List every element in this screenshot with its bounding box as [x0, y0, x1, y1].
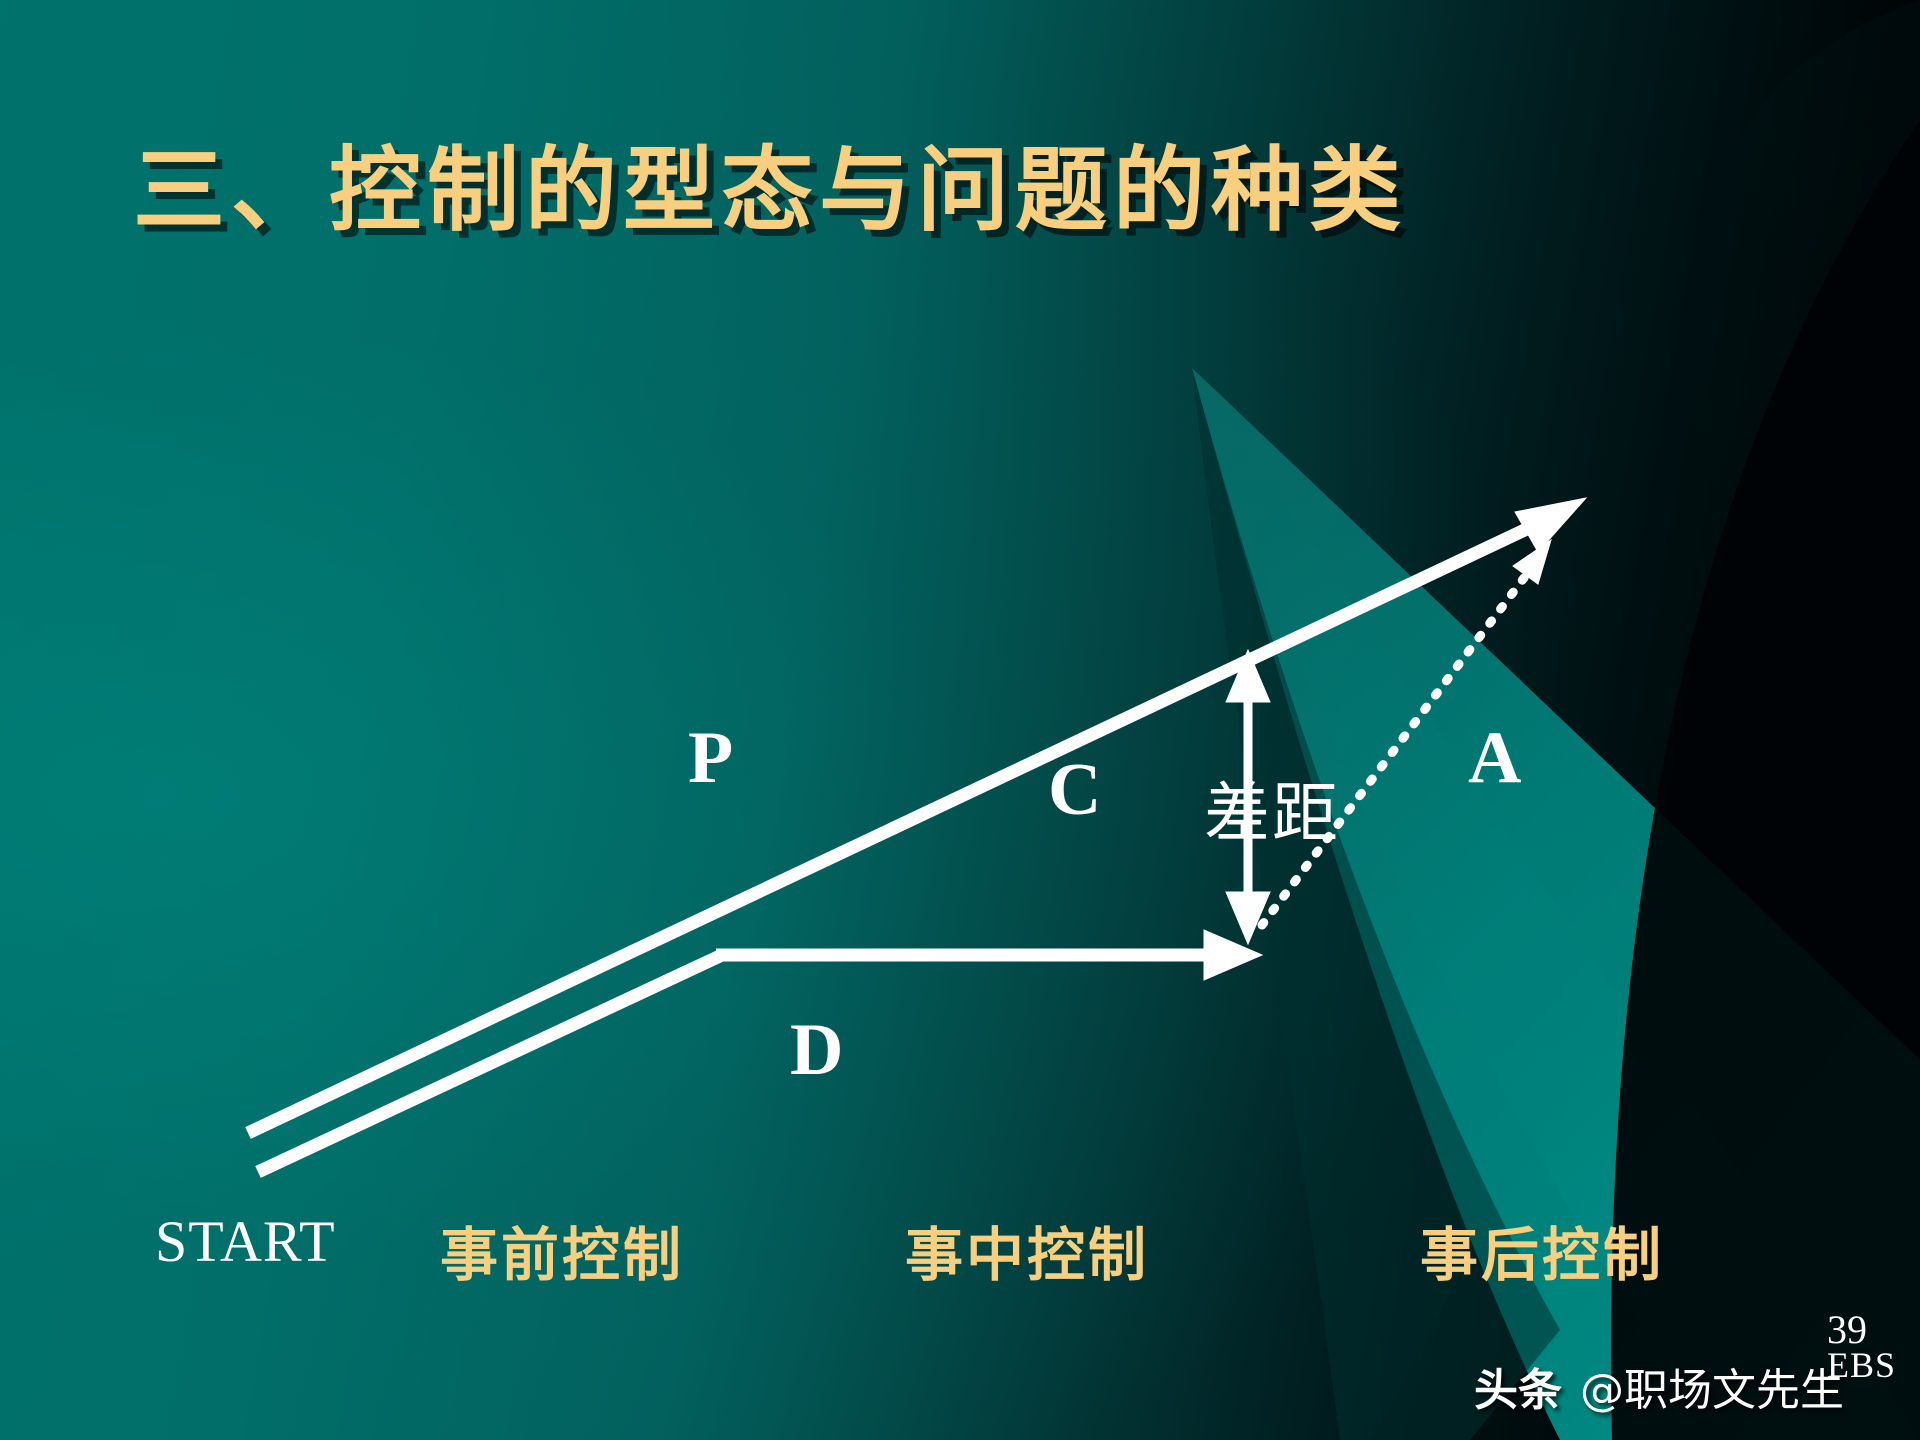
axis-label-mid-control: 事中控制	[905, 1208, 1149, 1292]
label-a: A	[1468, 716, 1521, 801]
watermark-brand: 头条	[1474, 1354, 1562, 1418]
axis-label-pre-control: 事前控制	[440, 1208, 684, 1292]
timeline-axis-labels: START 事前控制 事中控制 事后控制	[0, 1208, 1920, 1288]
watermark: 头条 @职场文先生	[1474, 1354, 1844, 1418]
slide-canvas: 三、控制的型态与问题的种类	[0, 0, 1920, 1440]
label-p: P	[688, 716, 733, 801]
label-c: C	[1048, 748, 1101, 833]
plan-line-upper	[248, 498, 1586, 1133]
label-gap: 差距	[1204, 760, 1340, 856]
axis-label-post-control: 事后控制	[1420, 1208, 1664, 1292]
axis-label-start: START	[155, 1208, 336, 1275]
label-d: D	[790, 1008, 843, 1093]
watermark-handle: @职场文先生	[1580, 1354, 1844, 1418]
